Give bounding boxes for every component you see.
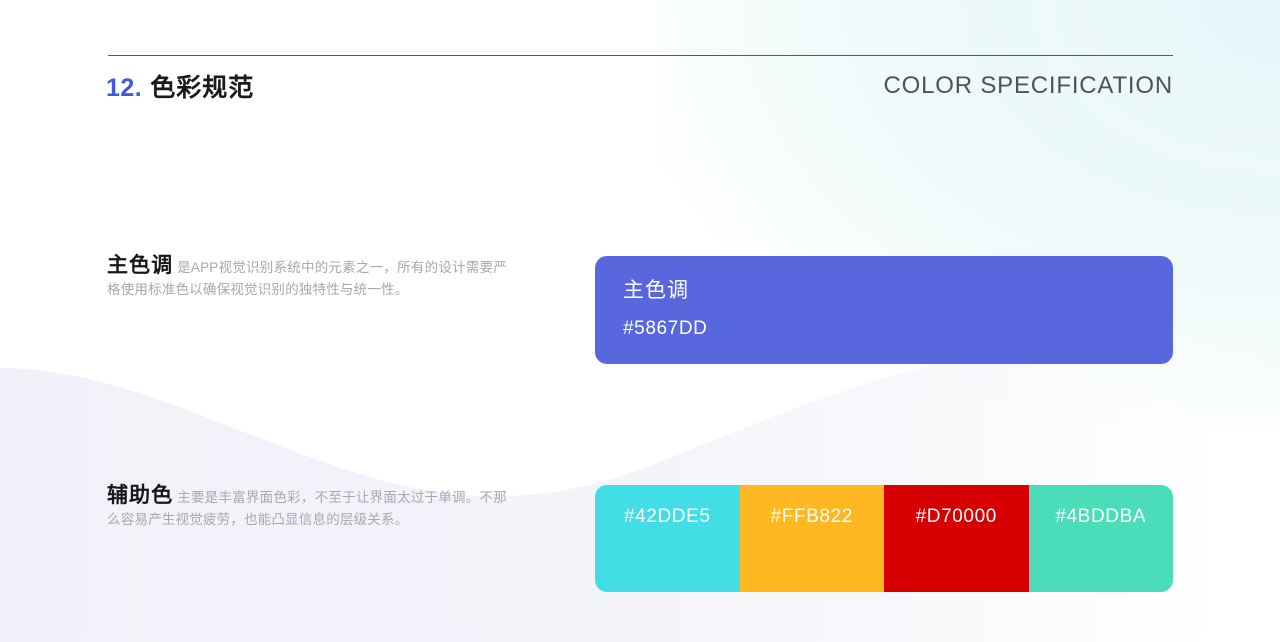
section-number: 12. — [106, 74, 142, 103]
secondary-description-text: 辅助色主要是丰富界面色彩，不至于让界面太过于单调。不那么容易产生视觉疲劳，也能凸… — [107, 485, 507, 531]
primary-color-card[interactable]: 主色调 #5867DD — [595, 256, 1173, 364]
swatch-red-hex: #D70000 — [916, 506, 997, 528]
swatch-cyan-hex: #42DDE5 — [624, 506, 711, 528]
swatch-teal-hex: #4BDDBA — [1055, 506, 1146, 528]
secondary-color-swatch-row: #42DDE5 #FFB822 #D70000 #4BDDBA — [595, 485, 1173, 592]
swatch-red[interactable]: #D70000 — [884, 485, 1029, 592]
primary-description-text: 主色调是APP视觉识别系统中的元素之一，所有的设计需要严格使用标准色以确保视觉识… — [107, 255, 507, 301]
primary-description-lead: 主色调 — [107, 254, 173, 277]
swatch-orange[interactable]: #FFB822 — [740, 485, 885, 592]
header-divider — [108, 55, 1173, 56]
secondary-description-lead: 辅助色 — [107, 484, 173, 507]
swatch-cyan[interactable]: #42DDE5 — [595, 485, 740, 592]
section-title-cn: 色彩规范 — [150, 68, 254, 104]
primary-color-hex: #5867DD — [623, 318, 1173, 340]
swatch-teal[interactable]: #4BDDBA — [1029, 485, 1174, 592]
primary-description-block: 主色调是APP视觉识别系统中的元素之一，所有的设计需要严格使用标准色以确保视觉识… — [107, 255, 507, 301]
page-title: 12. 色彩规范 — [106, 68, 254, 104]
section-title-en: COLOR SPECIFICATION — [884, 72, 1173, 100]
slide-page: 12. 色彩规范 COLOR SPECIFICATION 主色调是APP视觉识别… — [0, 0, 1280, 642]
secondary-description-block: 辅助色主要是丰富界面色彩，不至于让界面太过于单调。不那么容易产生视觉疲劳，也能凸… — [107, 485, 507, 531]
primary-color-name: 主色调 — [623, 278, 1173, 304]
swatch-orange-hex: #FFB822 — [771, 506, 853, 528]
